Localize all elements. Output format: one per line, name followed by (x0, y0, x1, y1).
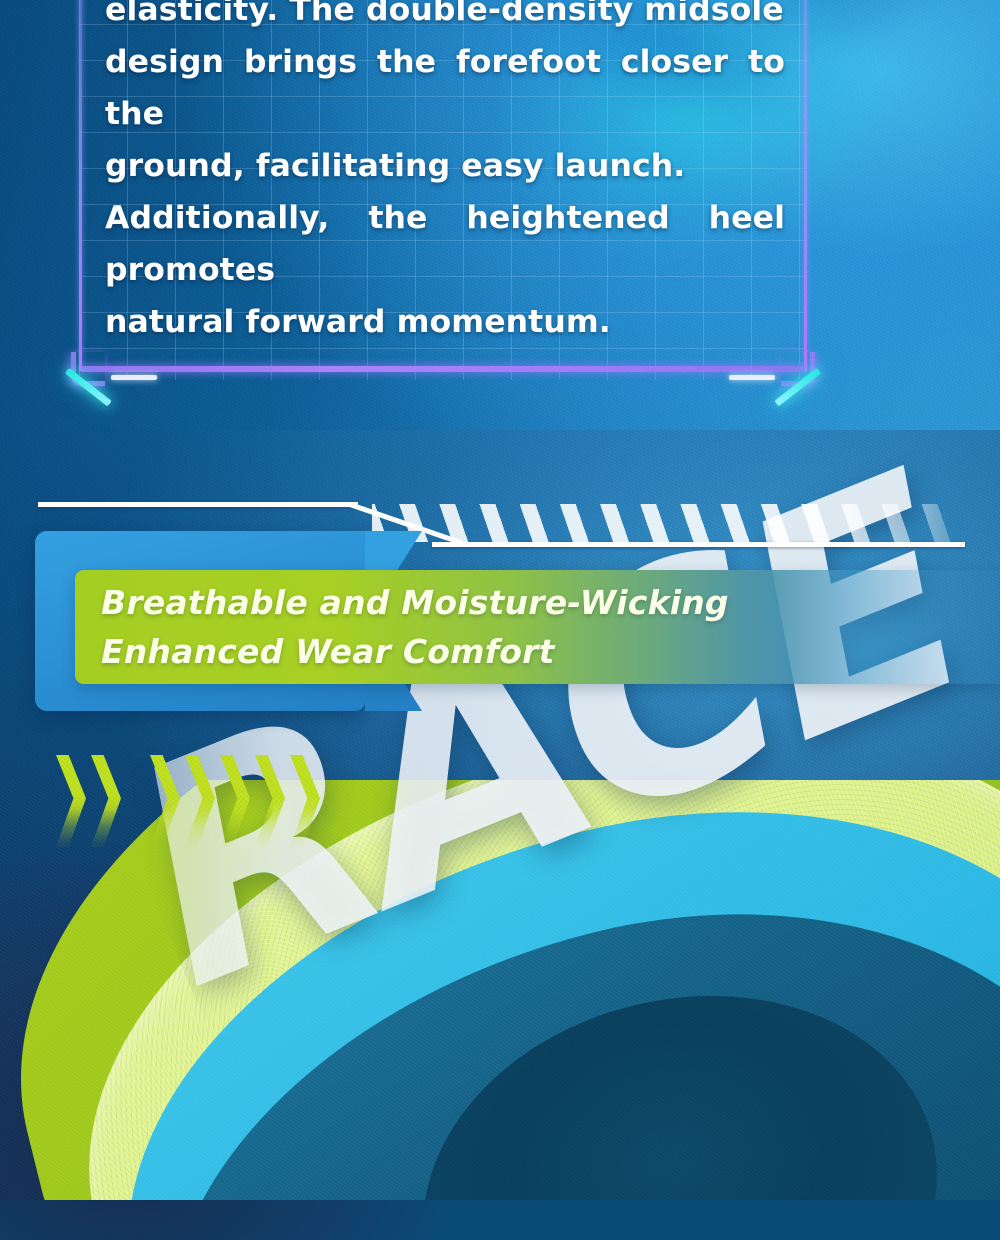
divider-hatch-stripes (372, 504, 962, 542)
panel-line-7: natural forward momentum. (105, 296, 785, 348)
chevron-icon (150, 755, 180, 847)
chevron-arrow-group (56, 755, 325, 847)
chevron-icon (220, 755, 250, 847)
panel-line-5: ground, facilitating easy launch. (105, 140, 785, 192)
chevron-icon (91, 755, 121, 847)
chevron-icon (255, 755, 285, 847)
chevron-icon (185, 755, 215, 847)
divider-line-upper (38, 502, 358, 507)
panel-line-3: elasticity. The double-density midsole (105, 0, 785, 36)
chevron-icon (290, 755, 320, 847)
panel-line-4: design brings the forefoot closer to the (105, 36, 785, 140)
chevron-icon (56, 755, 86, 847)
heading-line-1: Breathable and Moisture-Wicking (101, 578, 1000, 627)
divider-line-lower (432, 542, 965, 547)
panel-line-6: Additionally, the heightened heel promot… (105, 192, 785, 296)
panel-left-border (79, 0, 82, 371)
tech-description-text: The whole-foot HYPEREVA midsole material… (105, 0, 785, 380)
panel-right-border (804, 0, 807, 371)
heading-line-2: Enhanced Wear Comfort (101, 627, 1000, 676)
heading-green-banner: Breathable and Moisture-Wicking Enhanced… (75, 570, 1000, 684)
tech-description-panel: The whole-foot HYPEREVA midsole material… (79, 0, 807, 380)
